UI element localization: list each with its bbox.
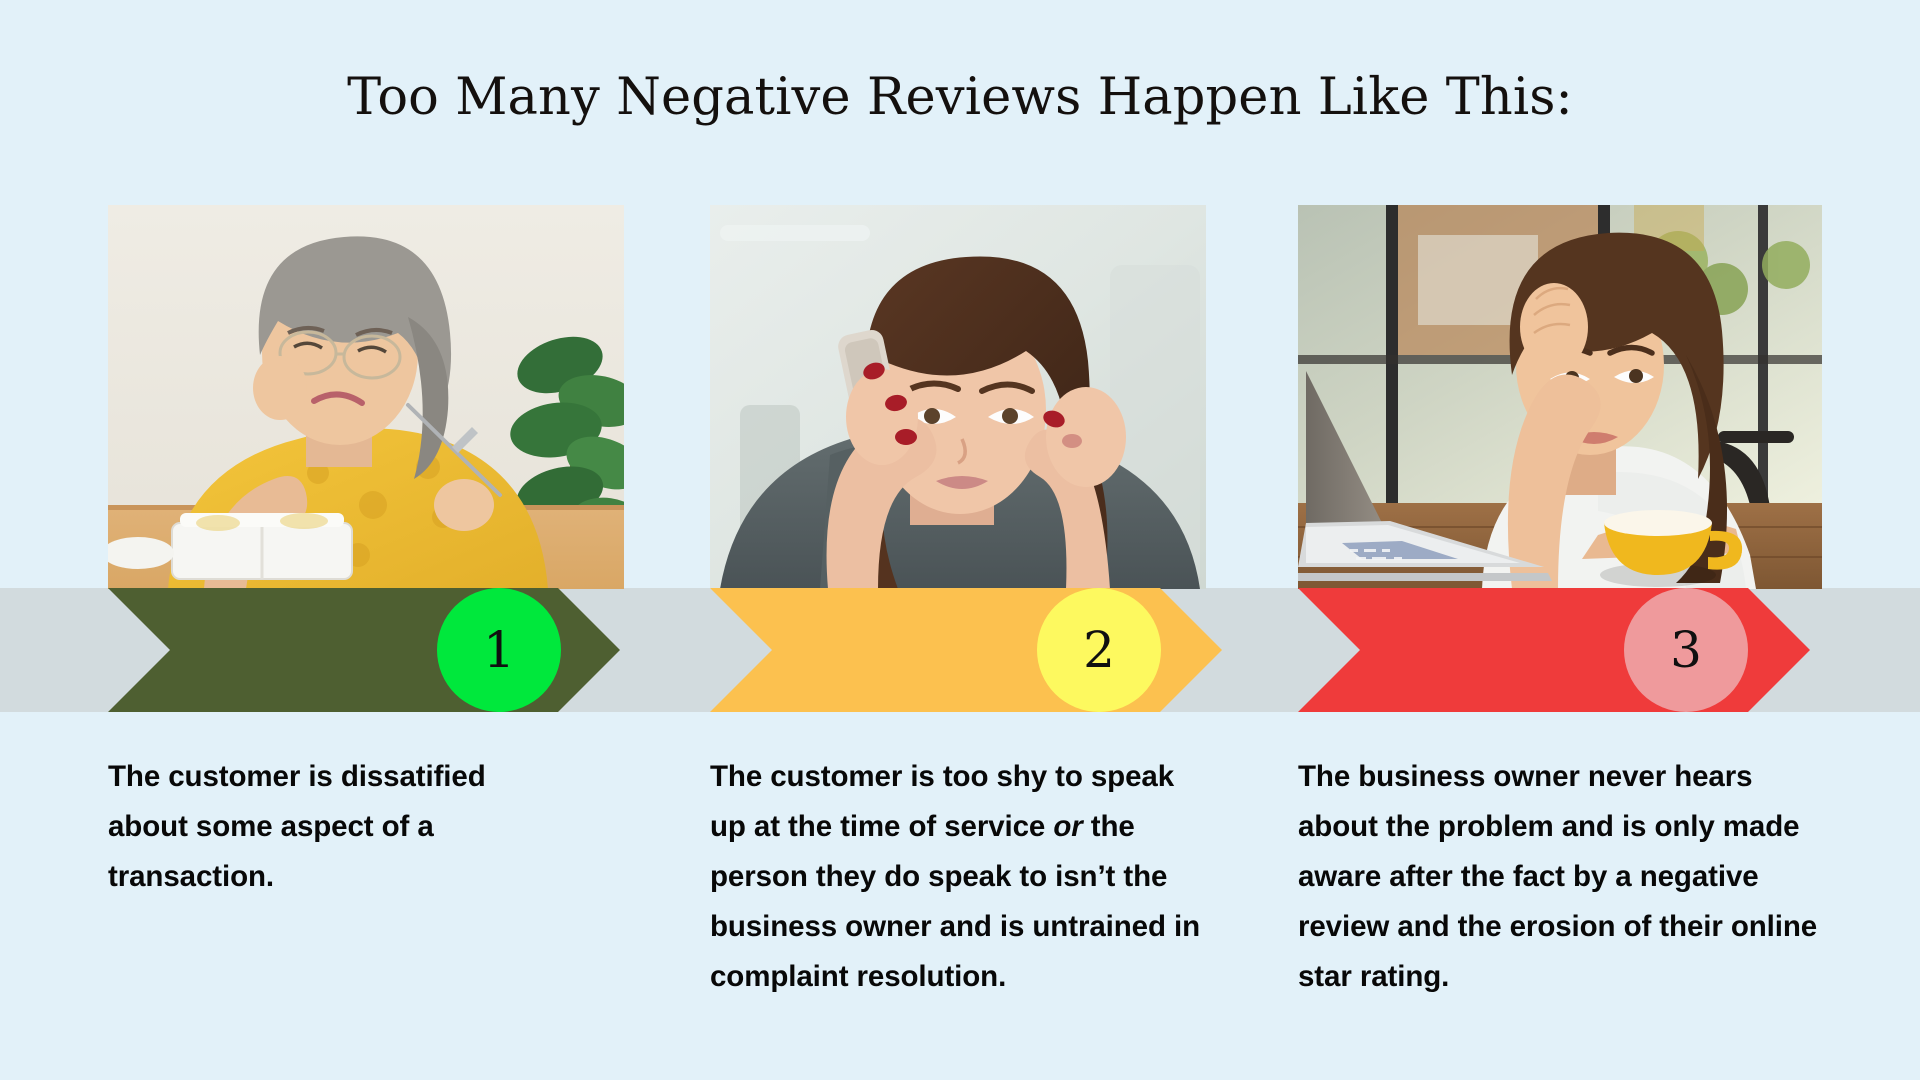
- step-3-number-badge: 3: [1624, 588, 1748, 712]
- step-3-photo: [1298, 205, 1822, 589]
- page-title: Too Many Negative Reviews Happen Like Th…: [0, 68, 1920, 127]
- step-3-caption: The business owner never hears about the…: [1298, 752, 1818, 1002]
- step-1-photo-illustration: [108, 205, 624, 589]
- step-2-number-badge: 2: [1037, 588, 1161, 712]
- step-2-caption-emphasis: or: [1053, 810, 1082, 843]
- step-1-photo: [108, 205, 624, 589]
- step-2-caption: The customer is too shy to speak up at t…: [710, 752, 1200, 1002]
- step-3-photo-illustration: [1298, 205, 1822, 589]
- step-2-photo-illustration: [710, 205, 1206, 589]
- step-1-caption: The customer is dissatified about some a…: [108, 752, 528, 902]
- step-2-photo: [710, 205, 1206, 589]
- step-1-number-badge: 1: [437, 588, 561, 712]
